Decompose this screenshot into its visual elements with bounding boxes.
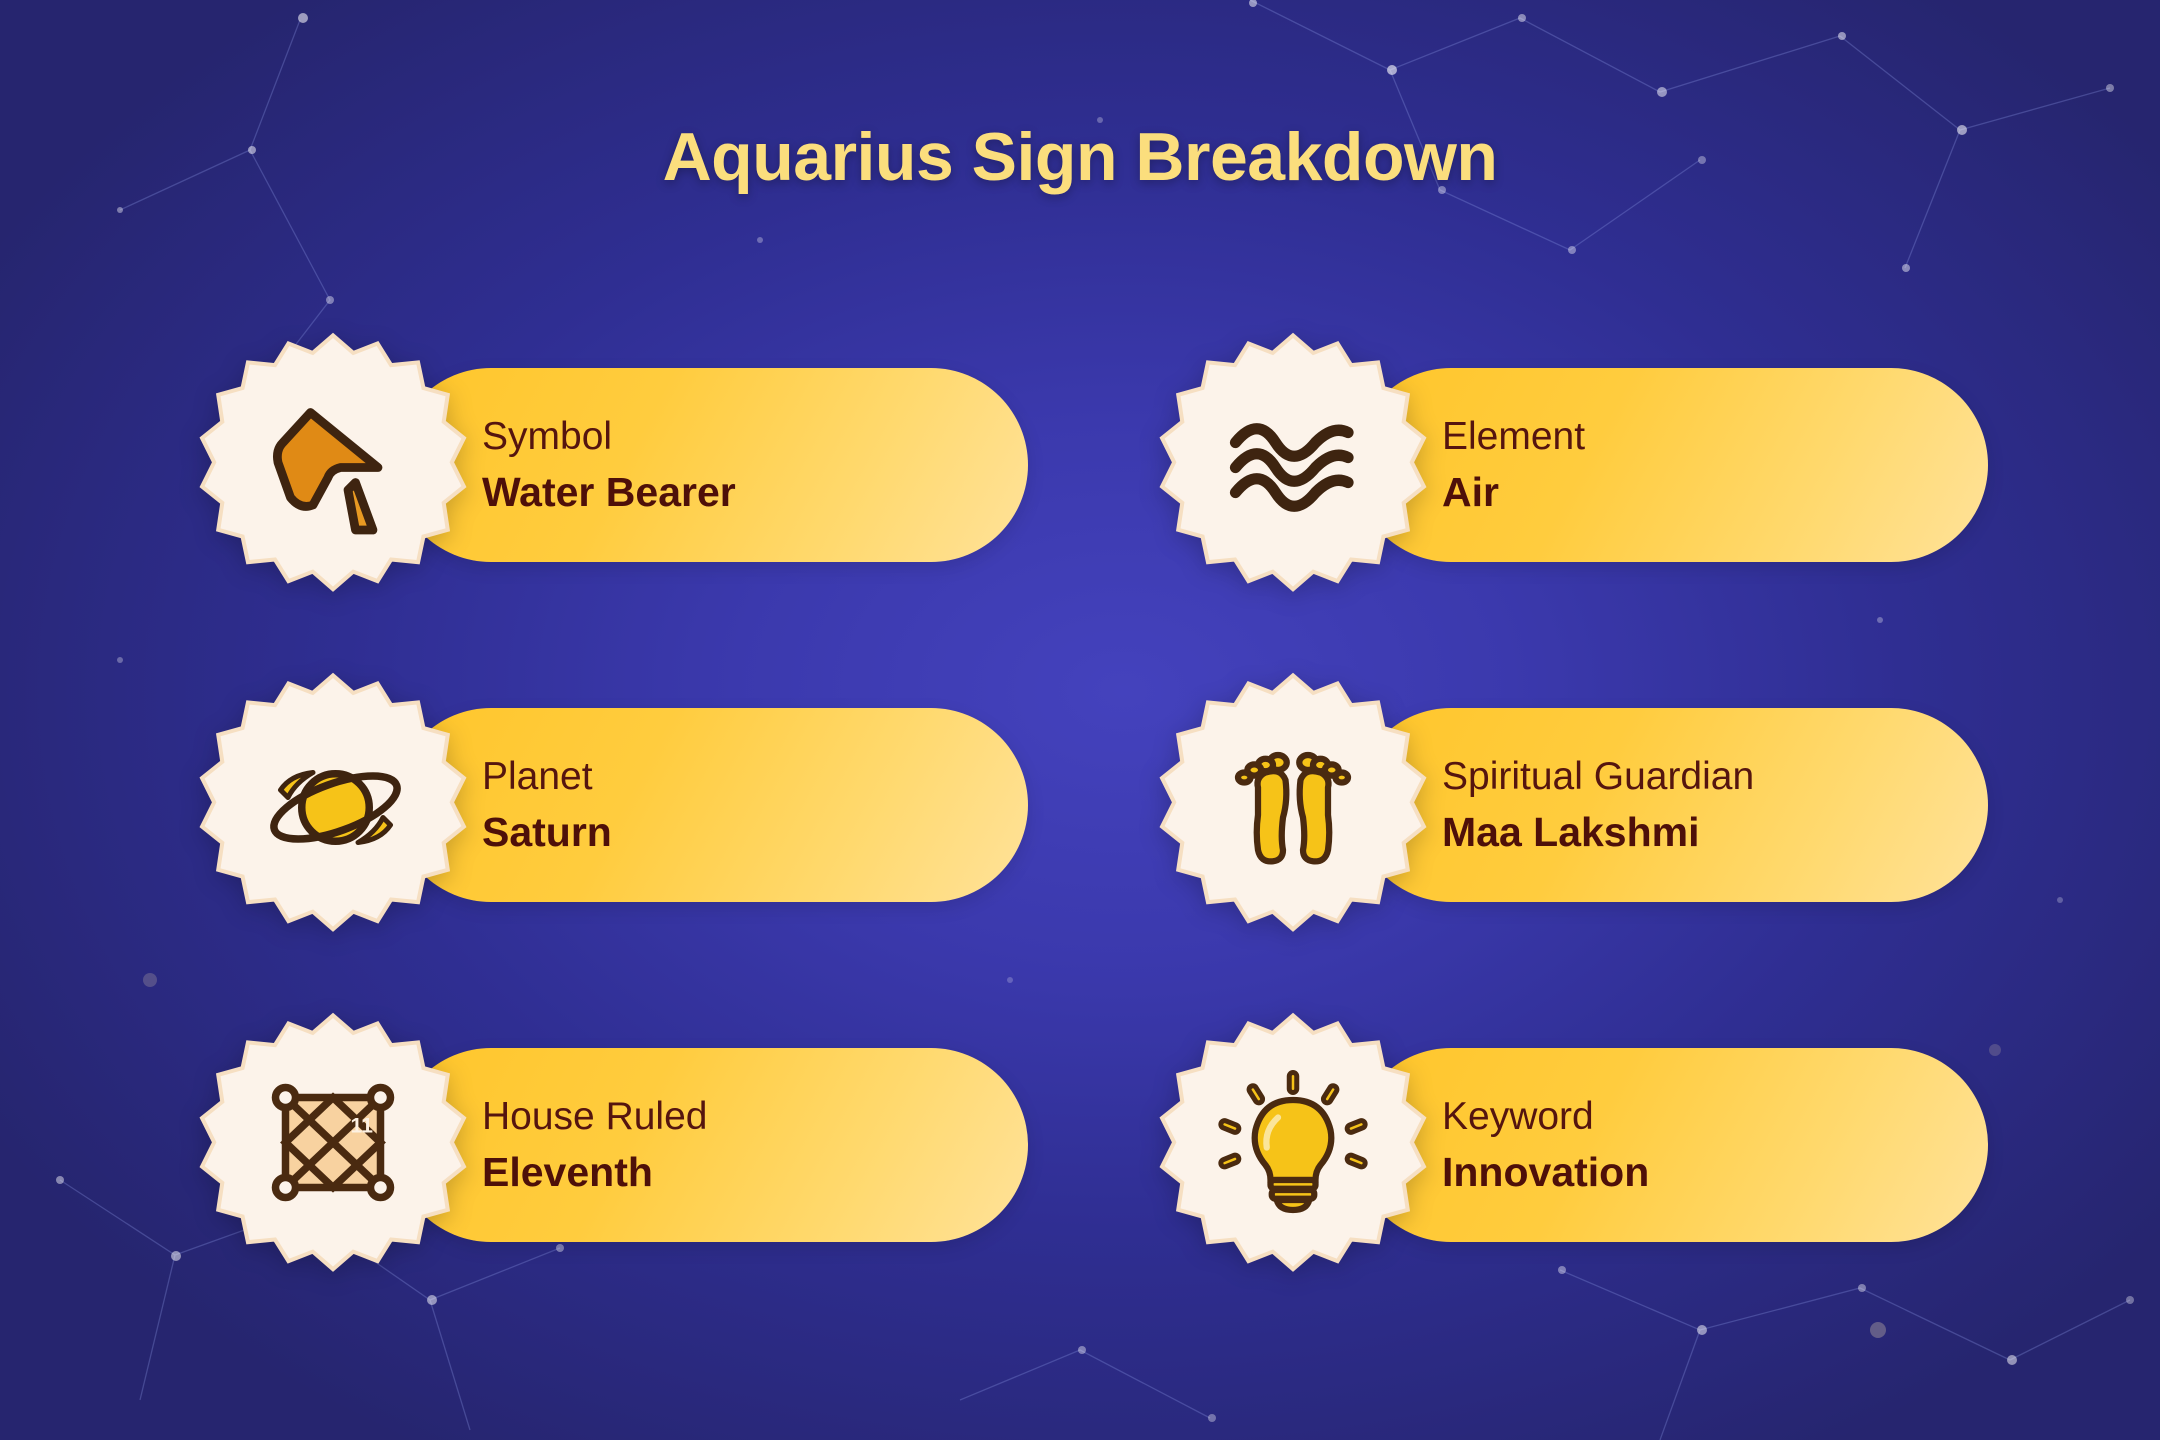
card-value: Saturn [482, 812, 612, 853]
card-planet: Planet Saturn [198, 670, 1028, 940]
pill-text-group: Keyword Innovation [1442, 1097, 1649, 1193]
badge-spiritual-guardian [1158, 670, 1428, 940]
pill-text-group: Planet Saturn [482, 757, 612, 853]
page-title: Aquarius Sign Breakdown [0, 118, 2160, 196]
attribute-grid: Symbol Water Bearer [198, 330, 1988, 1280]
badge-planet [198, 670, 468, 940]
badge-keyword [1158, 1010, 1428, 1280]
saturn-planet-icon [198, 670, 468, 940]
card-label: Spiritual Guardian [1442, 757, 1754, 796]
card-value: Maa Lakshmi [1442, 812, 1754, 853]
card-keyword: Keyword Innovation [1158, 1010, 1988, 1280]
card-label: Keyword [1442, 1097, 1649, 1136]
card-spiritual-guardian: Spiritual Guardian Maa Lakshmi [1158, 670, 1988, 940]
card-label: Symbol [482, 417, 736, 456]
infographic-canvas: Aquarius Sign Breakdown Symbol Water Bea… [0, 0, 2160, 1440]
card-element: Element Air [1158, 330, 1988, 600]
card-symbol: Symbol Water Bearer [198, 330, 1028, 600]
card-value: Eleventh [482, 1152, 707, 1193]
card-label: Planet [482, 757, 612, 796]
card-value: Air [1442, 472, 1585, 513]
card-label: Element [1442, 417, 1585, 456]
card-value: Innovation [1442, 1152, 1649, 1193]
pill-text-group: Element Air [1442, 417, 1585, 513]
card-house-ruled: House Ruled Eleventh [198, 1010, 1028, 1280]
card-value: Water Bearer [482, 472, 736, 513]
lightbulb-icon [1158, 1010, 1428, 1280]
pill-text-group: House Ruled Eleventh [482, 1097, 707, 1193]
birth-chart-house-icon: 11 [198, 1010, 468, 1280]
badge-symbol [198, 330, 468, 600]
house-number-label: 11 [351, 1114, 374, 1138]
badge-house-ruled: 11 [198, 1010, 468, 1280]
footprints-icon [1158, 670, 1428, 940]
water-pitcher-icon [198, 330, 468, 600]
air-waves-icon [1158, 330, 1428, 600]
card-label: House Ruled [482, 1097, 707, 1136]
pill-text-group: Spiritual Guardian Maa Lakshmi [1442, 757, 1754, 853]
pill-text-group: Symbol Water Bearer [482, 417, 736, 513]
badge-element [1158, 330, 1428, 600]
